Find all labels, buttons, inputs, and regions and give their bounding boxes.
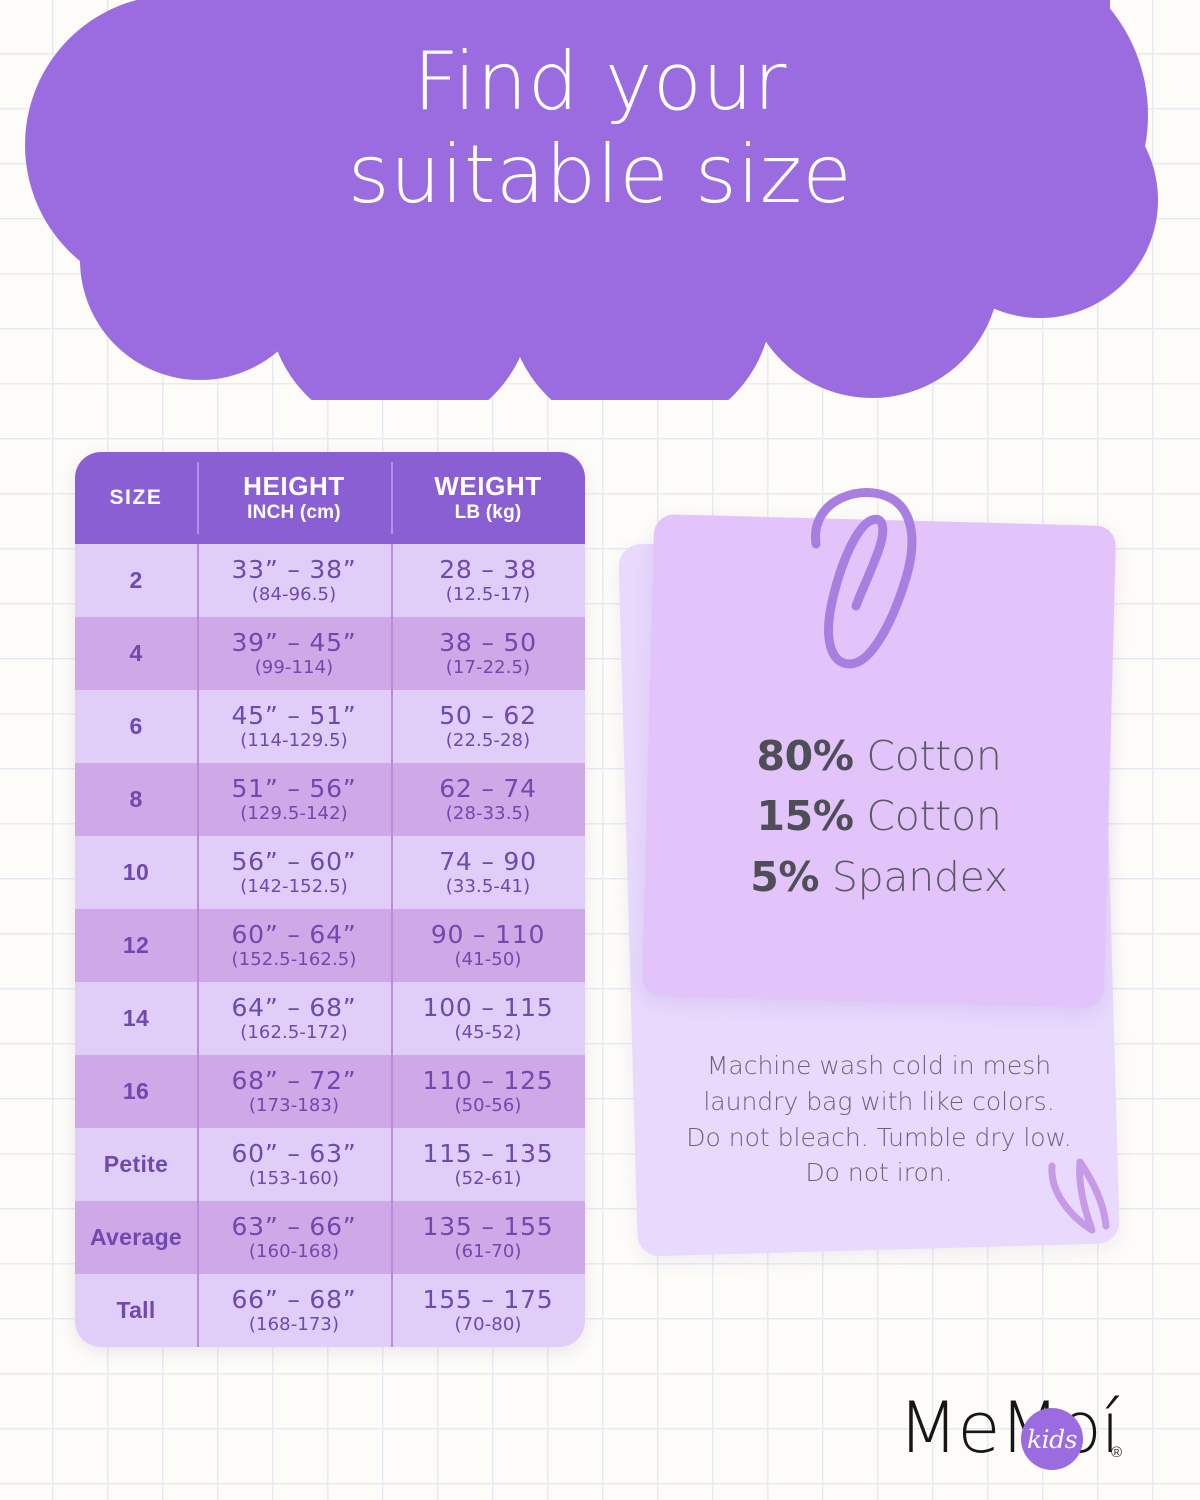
cell-weight: 74 – 90(33.5-41): [391, 836, 585, 909]
fabric-line-3: 5% Spandex: [648, 847, 1110, 907]
column-header-height-label: HEIGHT: [243, 472, 345, 501]
cell-height: 60” – 63”(153-160): [197, 1128, 391, 1201]
page-title-line-2: suitable size: [0, 129, 1200, 222]
cell-height: 33” – 38”(84-96.5): [197, 544, 391, 617]
cell-height: 60” – 64”(152.5-162.5): [197, 909, 391, 982]
cell-size: Tall: [75, 1274, 197, 1347]
cell-height: 45” – 51”(114-129.5): [197, 690, 391, 763]
column-header-weight-label: WEIGHT: [434, 472, 542, 501]
fabric-composition-list: 80% Cotton 15% Cotton 5% Spandex: [648, 726, 1110, 907]
fabric-material-2: Cotton: [854, 792, 1002, 840]
table-row: 2 33” – 38”(84-96.5) 28 – 38(12.5-17): [75, 544, 585, 617]
table-row: 16 68” – 72”(173-183) 110 – 125(50-56): [75, 1055, 585, 1128]
table-column-header-size: SIZE: [75, 452, 197, 544]
cell-size: 4: [75, 617, 197, 690]
table-row: 4 39” – 45”(99-114) 38 – 50(17-22.5): [75, 617, 585, 690]
table-column-header-weight: WEIGHT LB (kg): [391, 452, 585, 544]
cell-size: 16: [75, 1055, 197, 1128]
care-line-3: Do not bleach. Tumble dry low.: [648, 1120, 1110, 1156]
cell-weight: 62 – 74(28-33.5): [391, 763, 585, 836]
cell-weight: 110 – 125(50-56): [391, 1055, 585, 1128]
cell-size: 8: [75, 763, 197, 836]
fabric-material-3: Spandex: [819, 853, 1008, 901]
cell-height: 39” – 45”(99-114): [197, 617, 391, 690]
logo-kids-badge: kids: [1021, 1408, 1083, 1470]
cell-weight: 155 – 175(70-80): [391, 1274, 585, 1347]
cell-height: 68” – 72”(173-183): [197, 1055, 391, 1128]
table-row: 10 56” – 60”(142-152.5) 74 – 90(33.5-41): [75, 836, 585, 909]
table-row: 12 60” – 64”(152.5-162.5) 90 – 110(41-50…: [75, 909, 585, 982]
cell-size: 14: [75, 982, 197, 1055]
cell-weight: 28 – 38(12.5-17): [391, 544, 585, 617]
cell-size: 6: [75, 690, 197, 763]
cell-weight: 100 – 115(45-52): [391, 982, 585, 1055]
page-title: Find your suitable size: [0, 36, 1200, 222]
table-column-header-height: HEIGHT INCH (cm): [197, 452, 391, 544]
table-row: Petite 60” – 63”(153-160) 115 – 135(52-6…: [75, 1128, 585, 1201]
cell-weight: 90 – 110(41-50): [391, 909, 585, 982]
care-line-4: Do not iron.: [648, 1155, 1110, 1191]
table-row: 14 64” – 68”(162.5-172) 100 – 115(45-52): [75, 982, 585, 1055]
fabric-percent-2: 15%: [756, 792, 853, 840]
cell-height: 66” – 68”(168-173): [197, 1274, 391, 1347]
paperclip-icon: [798, 482, 928, 682]
cell-size: Petite: [75, 1128, 197, 1201]
fabric-percent-1: 80%: [756, 732, 853, 780]
table-row: 8 51” – 56”(129.5-142) 62 – 74(28-33.5): [75, 763, 585, 836]
care-line-1: Machine wash cold in mesh: [648, 1048, 1110, 1084]
cell-height: 64” – 68”(162.5-172): [197, 982, 391, 1055]
table-row: 6 45” – 51”(114-129.5) 50 – 62(22.5-28): [75, 690, 585, 763]
fabric-percent-3: 5%: [750, 853, 819, 901]
column-header-size-label: SIZE: [109, 486, 162, 509]
logo-wordmark: MeMoí: [898, 1386, 1119, 1470]
table-header-row: SIZE HEIGHT INCH (cm) WEIGHT LB (kg): [75, 452, 585, 544]
cell-weight: 135 – 155(61-70): [391, 1201, 585, 1274]
column-header-weight-unit: LB (kg): [455, 502, 522, 524]
cell-height: 63” – 66”(160-168): [197, 1201, 391, 1274]
cell-weight: 115 – 135(52-61): [391, 1128, 585, 1201]
fabric-line-2: 15% Cotton: [648, 786, 1110, 846]
column-header-height-unit: INCH (cm): [247, 502, 341, 524]
cell-height: 51” – 56”(129.5-142): [197, 763, 391, 836]
page-title-line-1: Find your: [0, 36, 1200, 129]
cell-size: 10: [75, 836, 197, 909]
cell-weight: 38 – 50(17-22.5): [391, 617, 585, 690]
cell-height: 56” – 60”(142-152.5): [197, 836, 391, 909]
table-row: Tall 66” – 68”(168-173) 155 – 175(70-80): [75, 1274, 585, 1347]
fabric-material-1: Cotton: [854, 732, 1002, 780]
size-chart-table: SIZE HEIGHT INCH (cm) WEIGHT LB (kg) 2 3…: [75, 452, 585, 1347]
cell-size: 12: [75, 909, 197, 982]
fabric-line-1: 80% Cotton: [648, 726, 1110, 786]
registered-trademark-icon: ®: [1111, 1444, 1122, 1461]
cell-size: 2: [75, 544, 197, 617]
table-row: Average 63” – 66”(160-168) 135 – 155(61-…: [75, 1201, 585, 1274]
brand-logo: MeMoí kids ®: [898, 1386, 1138, 1470]
care-line-2: laundry bag with like colors.: [648, 1084, 1110, 1120]
cell-weight: 50 – 62(22.5-28): [391, 690, 585, 763]
cell-size: Average: [75, 1201, 197, 1274]
care-instructions: Machine wash cold in mesh laundry bag wi…: [648, 1048, 1110, 1191]
